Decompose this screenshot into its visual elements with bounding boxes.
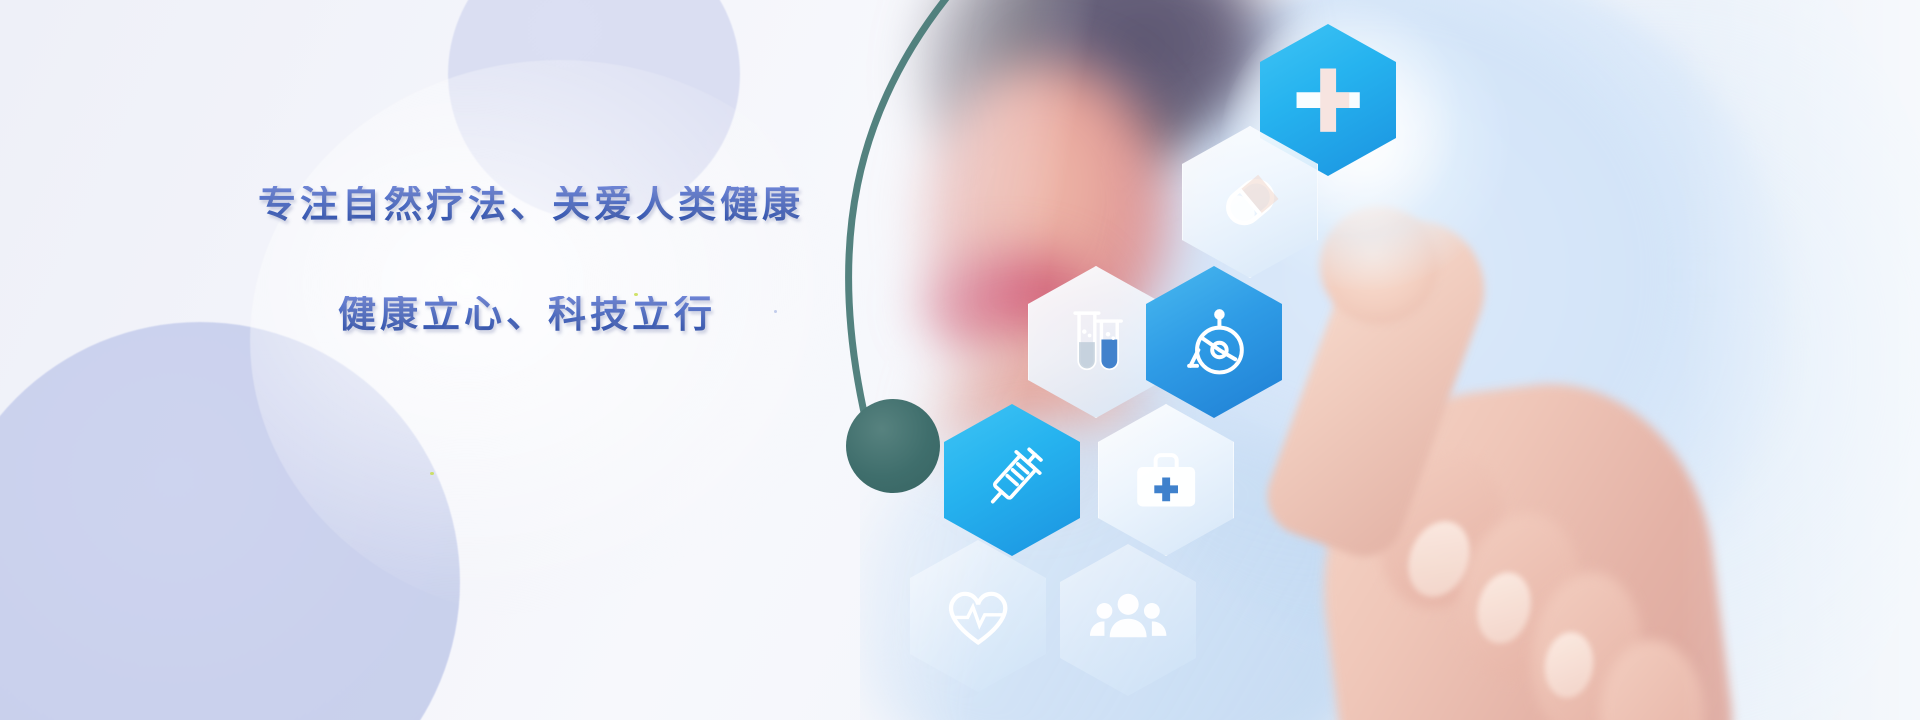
- medical-briefcase-icon: [1124, 433, 1208, 527]
- headline-primary: 专注自然疗法、关爱人类健康: [258, 186, 898, 224]
- capsule-pill-icon: [1208, 155, 1292, 249]
- test-tubes-icon: [1054, 295, 1138, 389]
- hexagon-icon-cluster: [900, 0, 1920, 720]
- hexagon-tile-heart[interactable]: [910, 540, 1046, 692]
- hexagon-tile-test-tubes[interactable]: [1028, 266, 1164, 418]
- people-group-icon: [1086, 573, 1170, 667]
- wheelchair-icon: [1172, 295, 1256, 389]
- medical-cross-icon: [1286, 53, 1370, 147]
- headline-block: 专注自然疗法、关爱人类健康 健康立心、科技立行: [258, 186, 898, 334]
- decor-speck: [430, 472, 434, 475]
- hexagon-tile-wheelchair[interactable]: [1146, 266, 1282, 418]
- syringe-icon: [970, 433, 1054, 527]
- hexagon-tile-syringe[interactable]: [944, 404, 1080, 556]
- hexagon-tile-medical-kit[interactable]: [1098, 404, 1234, 556]
- headline-secondary: 健康立心、科技立行: [338, 296, 898, 334]
- hexagon-tile-people[interactable]: [1060, 544, 1196, 696]
- heart-icon: [936, 569, 1020, 663]
- hero-banner: 专注自然疗法、关爱人类健康 健康立心、科技立行: [0, 0, 1920, 720]
